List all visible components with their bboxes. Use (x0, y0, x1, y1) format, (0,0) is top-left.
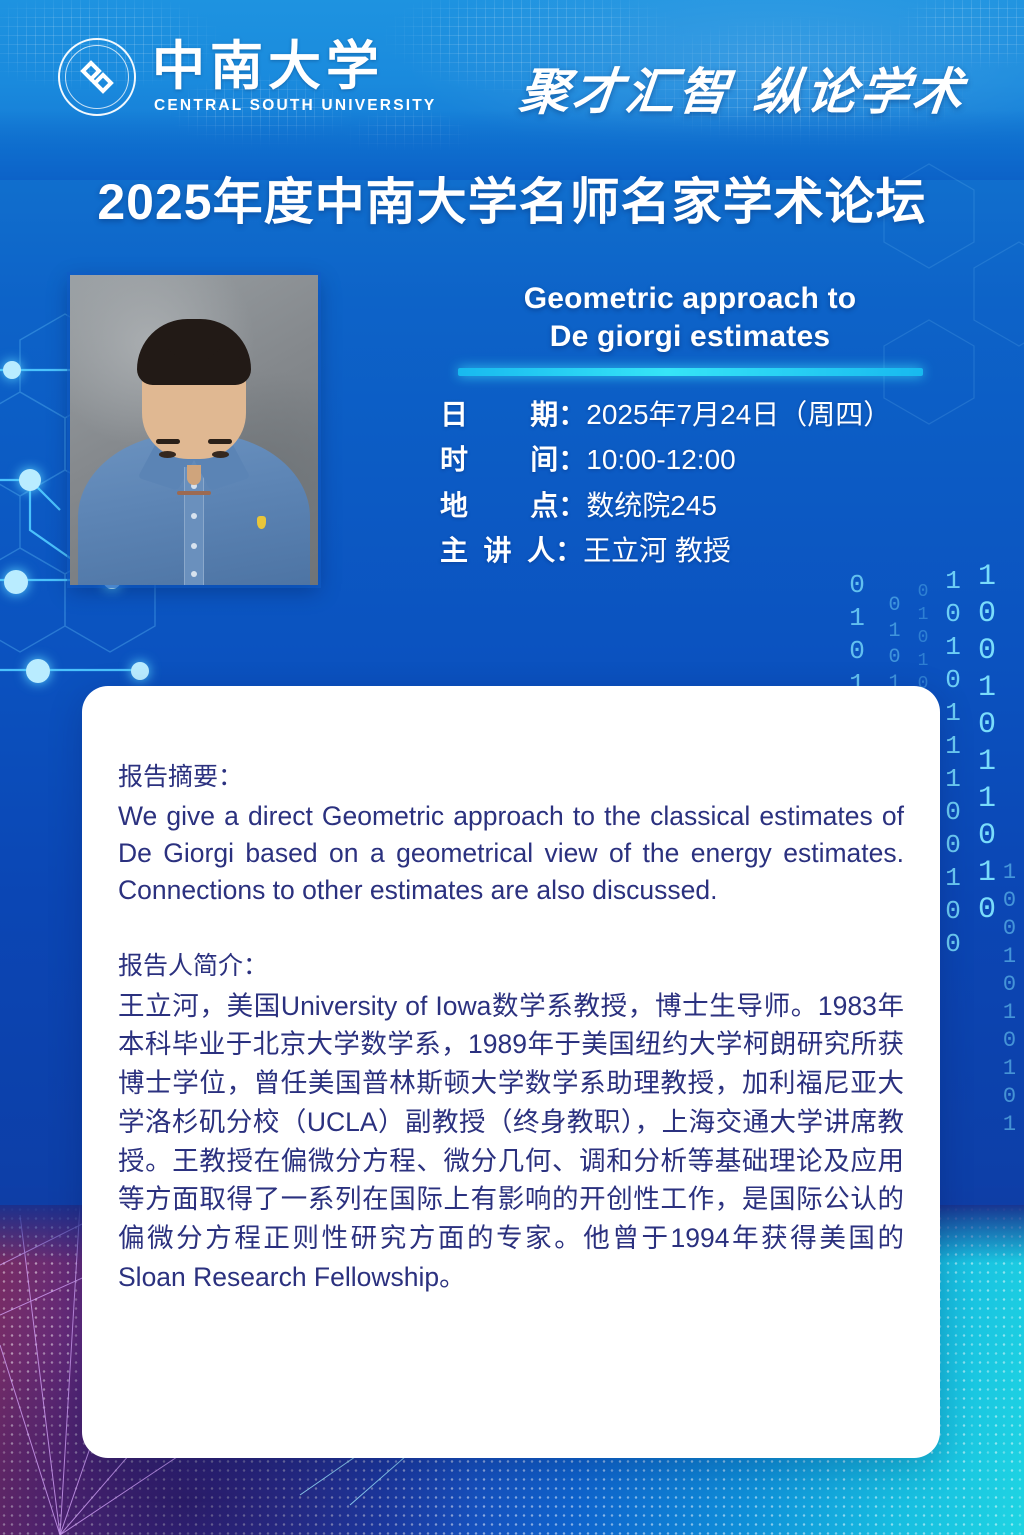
bio-heading: 报告人简介： (118, 947, 904, 986)
csu-emblem-icon (58, 38, 136, 116)
slogan-part-2: 纵论学术 (751, 62, 969, 121)
detail-colon: ： (558, 437, 586, 482)
portrait-pocket-logo (257, 516, 266, 529)
detail-colon: ： (555, 528, 583, 573)
lecture-title-line-2: De giorgi estimates (440, 318, 940, 356)
detail-label: 地 点 (440, 483, 558, 528)
binary-column: 101011100100 (940, 566, 966, 962)
detail-row-date: 日 期 ： 2025年7月24日（周四） (440, 392, 940, 437)
content-card: 报告摘要： We give a direct Geometric approac… (82, 686, 940, 1458)
detail-label: 日 期 (440, 392, 558, 437)
section-spacer (118, 909, 904, 947)
speaker-portrait (70, 275, 318, 585)
binary-column: 1001010101 (998, 860, 1020, 1140)
detail-value: 数统院245 (586, 483, 717, 528)
abstract-heading: 报告摘要： (118, 758, 904, 797)
title-divider (458, 368, 923, 376)
abstract-body: We give a direct Geometric approach to t… (118, 798, 904, 909)
detail-label: 主 讲 人 (440, 528, 555, 573)
detail-row-location: 地 点 ： 数统院245 (440, 483, 940, 528)
detail-row-speaker: 主 讲 人 ： 王立河 教授 (440, 528, 940, 573)
detail-value: 2025年7月24日（周四） (586, 392, 891, 437)
detail-colon: ： (558, 392, 586, 437)
logo-english-name: CENTRAL SOUTH UNIVERSITY (152, 97, 436, 115)
detail-value: 10:00-12:00 (586, 437, 735, 482)
lecture-title-line-1: Geometric approach to (440, 280, 940, 318)
detail-label: 时 间 (440, 437, 558, 482)
lecture-detail-list: 日 期 ： 2025年7月24日（周四） 时 间 ： 10:00-12:00 地… (440, 392, 940, 573)
detail-colon: ： (558, 483, 586, 528)
logo-chinese-name: 中南大学 (152, 39, 436, 93)
lecture-title: Geometric approach to De giorgi estimate… (440, 280, 940, 357)
calligraphy-slogan: 聚才汇智纵论学术 (516, 52, 970, 124)
detail-value: 王立河 教授 (583, 528, 731, 573)
university-logo: 中南大学 CENTRAL SOUTH UNIVERSITY (58, 38, 436, 116)
page-title: 2025年度中南大学名师名家学术论坛 (0, 172, 1024, 232)
detail-row-time: 时 间 ： 10:00-12:00 (440, 437, 940, 482)
bio-body: 王立河，美国University of Iowa数学系教授，博士生导师。1983… (118, 987, 904, 1297)
seminar-poster: 010100110 01010110 0101011001 1010111001… (0, 0, 1024, 1535)
slogan-part-1: 聚才汇智 (517, 62, 735, 121)
lecture-info-block: Geometric approach to De giorgi estimate… (440, 280, 940, 573)
